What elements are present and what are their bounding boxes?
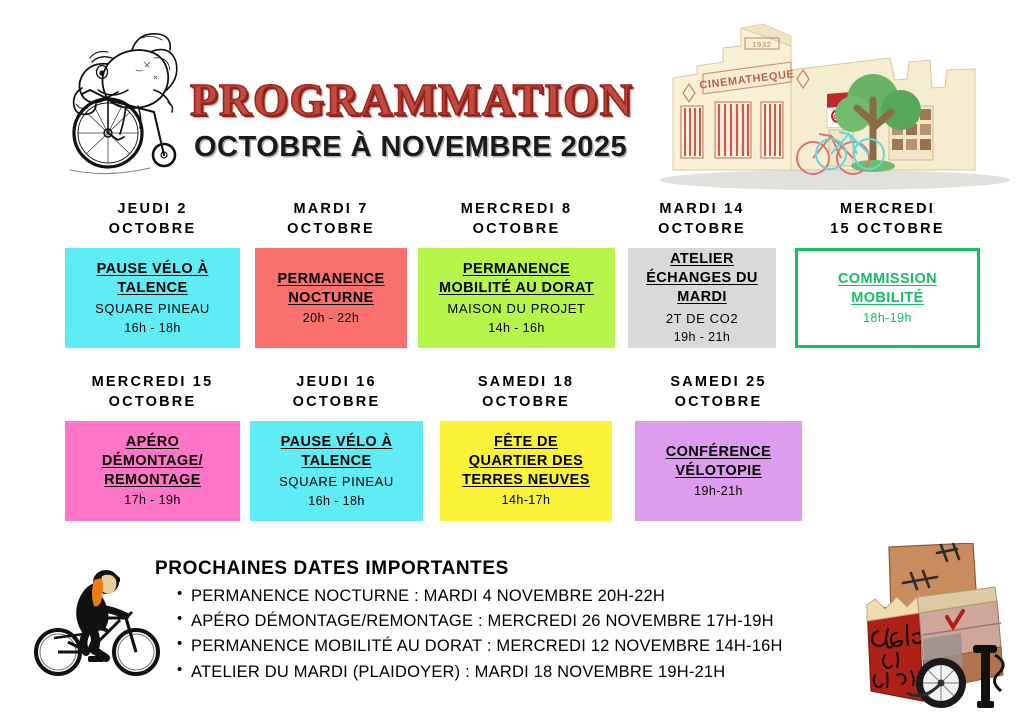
calendar-cell-samedi-25-octobre: SAMEDI 25 OCTOBRE CONFÉRENCE VÉLOTOPIE 1… — [635, 373, 802, 521]
event-title-line-2: TALENCE — [301, 453, 371, 469]
date-line-2: OCTOBRE — [473, 221, 561, 237]
date-line-1: MERCREDI 15 — [92, 374, 214, 390]
page-title: PROGRAMMATION — [190, 78, 630, 123]
date-line-2: OCTOBRE — [658, 221, 746, 237]
event-title: PERMANENCE MOBILITÉ AU DORAT — [439, 260, 594, 298]
event-time: 17h - 19h — [124, 492, 180, 509]
event-title-line-2: ÉCHANGES DU — [646, 270, 758, 286]
event-title: PAUSE VÉLO À TALENCE — [97, 260, 209, 298]
event-time: 16h - 18h — [308, 493, 364, 510]
event-title-line-3: MARDI — [677, 289, 727, 305]
event-card[interactable]: PAUSE VÉLO À TALENCE SQUARE PINEAU 16h -… — [250, 421, 423, 521]
event-time: 14h-17h — [502, 492, 551, 509]
event-time: 19h - 21h — [674, 329, 730, 346]
calendar-cell-samedi-18-octobre: SAMEDI 18 OCTOBRE FÊTE DE QUARTIER DES T… — [440, 373, 612, 521]
event-title-line-1: CONFÉRENCE — [666, 444, 772, 460]
event-title: PAUSE VÉLO À TALENCE — [281, 433, 393, 471]
event-place: MAISON DU PROJET — [447, 300, 585, 318]
event-title-line-2: DÉMONTAGE/ — [102, 453, 203, 469]
event-time: 19h-21h — [694, 483, 743, 500]
event-title: ATELIER ÉCHANGES DU MARDI — [646, 250, 758, 307]
upcoming-dates-section: PROCHAINES DATES IMPORTANTES PERMANENCE … — [155, 558, 835, 685]
event-card[interactable]: APÉRO DÉMONTAGE/ REMONTAGE 17h - 19h — [65, 421, 240, 521]
date-line-2: OCTOBRE — [675, 394, 763, 410]
upcoming-dates-list: PERMANENCE NOCTURNE : MARDI 4 NOVEMBRE 2… — [155, 584, 835, 685]
page-subtitle: OCTOBRE À NOVEMBRE 2025 — [194, 133, 630, 162]
date-header: MERCREDI 8 OCTOBRE — [418, 200, 615, 239]
date-line-1: MARDI 14 — [659, 201, 744, 217]
cyclist-icon — [32, 556, 167, 681]
calendar-cell-mardi-14-octobre: MARDI 14 OCTOBRE ATELIER ÉCHANGES DU MAR… — [628, 200, 776, 348]
event-title: APÉRO DÉMONTAGE/ REMONTAGE — [102, 433, 203, 490]
event-title: COMMISSION MOBILITÉ — [838, 270, 937, 308]
event-place: SQUARE PINEAU — [279, 473, 394, 491]
date-line-2: OCTOBRE — [293, 394, 381, 410]
event-card[interactable]: PERMANENCE NOCTURNE 20h - 22h — [255, 248, 407, 348]
list-item: PERMANENCE MOBILITÉ AU DORAT : MERCREDI … — [177, 634, 835, 659]
event-time: 18h-19h — [863, 310, 912, 327]
calendar-cell-mercredi-15-octobre-commission: MERCREDI 15 OCTOBRE COMMISSION MOBILITÉ … — [795, 200, 980, 348]
event-title-line-1: COMMISSION — [838, 271, 937, 287]
date-line-1: JEUDI 2 — [117, 201, 187, 217]
event-place: SQUARE PINEAU — [95, 300, 210, 318]
event-title-line-1: PERMANENCE — [463, 261, 570, 277]
upcoming-dates-heading: PROCHAINES DATES IMPORTANTES — [155, 558, 835, 580]
date-line-2: 15 OCTOBRE — [830, 221, 944, 237]
cargo-bike-icon — [845, 543, 1024, 715]
calendar-row-1: JEUDI 2 OCTOBRE PAUSE VÉLO À TALENCE SQU… — [0, 200, 1024, 355]
calendar-cell-jeudi-2-octobre: JEUDI 2 OCTOBRE PAUSE VÉLO À TALENCE SQU… — [65, 200, 240, 348]
event-place: 2T DE CO2 — [666, 310, 738, 328]
event-title-line-2: VÉLOTOPIE — [675, 463, 761, 479]
date-header: MARDI 7 OCTOBRE — [255, 200, 407, 239]
date-header: MARDI 14 OCTOBRE — [628, 200, 776, 239]
date-header: MERCREDI 15 OCTOBRE — [65, 373, 240, 412]
event-time: 16h - 18h — [124, 320, 180, 337]
date-line-2: OCTOBRE — [287, 221, 375, 237]
date-line-2: OCTOBRE — [109, 221, 197, 237]
event-title-line-2: NOCTURNE — [288, 290, 373, 306]
event-card[interactable]: CONFÉRENCE VÉLOTOPIE 19h-21h — [635, 421, 802, 521]
event-title: FÊTE DE QUARTIER DES TERRES NEUVES — [462, 433, 590, 490]
elephant-penny-farthing-icon — [46, 18, 196, 183]
date-header: SAMEDI 25 OCTOBRE — [635, 373, 802, 412]
calendar-row-2: MERCREDI 15 OCTOBRE APÉRO DÉMONTAGE/ REM… — [0, 373, 1024, 528]
poster-title-block: PROGRAMMATION OCTOBRE À NOVEMBRE 2025 — [190, 78, 630, 162]
date-header: JEUDI 16 OCTOBRE — [250, 373, 423, 412]
event-card[interactable]: COMMISSION MOBILITÉ 18h-19h — [795, 248, 980, 348]
event-title-line-2: MOBILITÉ — [851, 290, 923, 306]
event-card[interactable]: PAUSE VÉLO À TALENCE SQUARE PINEAU 16h -… — [65, 248, 240, 348]
event-title-line-1: PAUSE VÉLO À — [281, 434, 393, 450]
date-line-1: MARDI 7 — [293, 201, 368, 217]
event-card[interactable]: PERMANENCE MOBILITÉ AU DORAT MAISON DU P… — [418, 248, 615, 348]
event-title-line-1: PAUSE VÉLO À — [97, 261, 209, 277]
event-card[interactable]: FÊTE DE QUARTIER DES TERRES NEUVES 14h-1… — [440, 421, 612, 521]
event-title-line-2: QUARTIER DES — [469, 453, 583, 469]
event-title-line-1: ATELIER — [670, 251, 734, 267]
calendar-cell-jeudi-16-octobre: JEUDI 16 OCTOBRE PAUSE VÉLO À TALENCE SQ… — [250, 373, 423, 521]
event-title-line-1: PERMANENCE — [277, 271, 384, 287]
date-line-1: MERCREDI 8 — [461, 201, 572, 217]
list-item: APÉRO DÉMONTAGE/REMONTAGE : MERCREDI 26 … — [177, 609, 835, 634]
calendar-cell-mardi-7-octobre: MARDI 7 OCTOBRE PERMANENCE NOCTURNE 20h … — [255, 200, 407, 348]
event-title-line-3: REMONTAGE — [104, 472, 201, 488]
event-title-line-3: TERRES NEUVES — [462, 472, 590, 488]
list-item: ATELIER DU MARDI (PLAIDOYER) : MARDI 18 … — [177, 660, 835, 685]
event-title: PERMANENCE NOCTURNE — [277, 270, 384, 308]
svg-text:1932: 1932 — [752, 42, 772, 49]
event-time: 20h - 22h — [303, 310, 359, 327]
date-line-1: SAMEDI 25 — [670, 374, 766, 390]
date-line-2: OCTOBRE — [482, 394, 570, 410]
event-title-line-1: APÉRO — [126, 434, 180, 450]
calendar-cell-mercredi-15-octobre-apero: MERCREDI 15 OCTOBRE APÉRO DÉMONTAGE/ REM… — [65, 373, 240, 521]
cinematheque-building-icon: 1932 CINEMATHEQUE CM Cycles&M — [645, 18, 1015, 193]
event-time: 14h - 16h — [488, 320, 544, 337]
list-item: PERMANENCE NOCTURNE : MARDI 4 NOVEMBRE 2… — [177, 584, 835, 609]
date-line-1: SAMEDI 18 — [478, 374, 574, 390]
event-title-line-2: MOBILITÉ AU DORAT — [439, 280, 594, 296]
calendar-cell-mercredi-8-octobre: MERCREDI 8 OCTOBRE PERMANENCE MOBILITÉ A… — [418, 200, 615, 348]
event-title-line-2: TALENCE — [117, 280, 187, 296]
date-header: SAMEDI 18 OCTOBRE — [440, 373, 612, 412]
date-header: JEUDI 2 OCTOBRE — [65, 200, 240, 239]
event-card[interactable]: ATELIER ÉCHANGES DU MARDI 2T DE CO2 19h … — [628, 248, 776, 348]
event-title-line-1: FÊTE DE — [494, 434, 558, 450]
date-line-1: MERCREDI — [840, 201, 935, 217]
date-line-1: JEUDI 16 — [296, 374, 376, 390]
event-title: CONFÉRENCE VÉLOTOPIE — [666, 443, 772, 481]
date-header: MERCREDI 15 OCTOBRE — [795, 200, 980, 239]
date-line-2: OCTOBRE — [109, 394, 197, 410]
